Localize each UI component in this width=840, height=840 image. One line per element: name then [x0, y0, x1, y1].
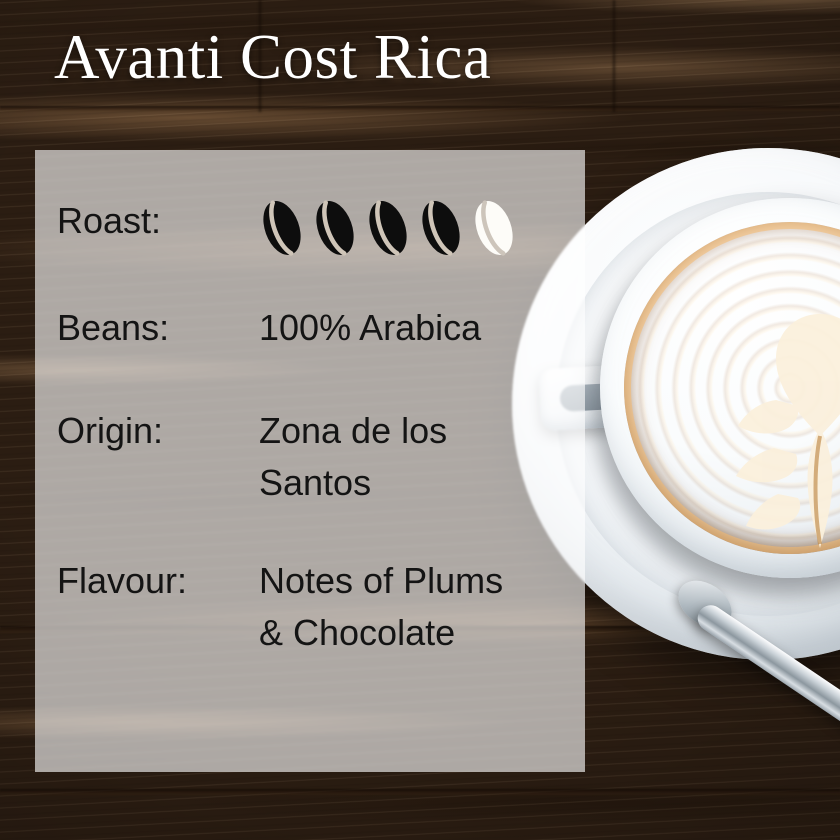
coffee-bean-icon [365, 197, 411, 259]
spec-row-roast: Roast: [57, 195, 517, 259]
coffee-bean-icon [312, 197, 358, 259]
spec-value-beans: 100% Arabica [259, 302, 481, 354]
spec-label-origin: Origin: [57, 405, 259, 457]
spec-row-beans: Beans: 100% Arabica [57, 302, 481, 354]
coffee-bean-empty-icon [471, 197, 517, 259]
coffee-bean-icon [418, 197, 464, 259]
spec-label-roast: Roast: [57, 195, 259, 247]
roast-rating [259, 197, 517, 259]
spec-row-flavour: Flavour: Notes of Plums & Chocolate [57, 555, 527, 659]
product-card: Avanti Cost Rica Roast: [0, 0, 840, 840]
coffee-bean-icon [259, 197, 305, 259]
page-title: Avanti Cost Rica [54, 24, 491, 90]
spec-row-origin: Origin: Zona de los Santos [57, 405, 527, 509]
spec-label-flavour: Flavour: [57, 555, 259, 607]
spec-value-origin: Zona de los Santos [259, 405, 527, 509]
spec-label-beans: Beans: [57, 302, 259, 354]
spec-value-flavour: Notes of Plums & Chocolate [259, 555, 527, 659]
